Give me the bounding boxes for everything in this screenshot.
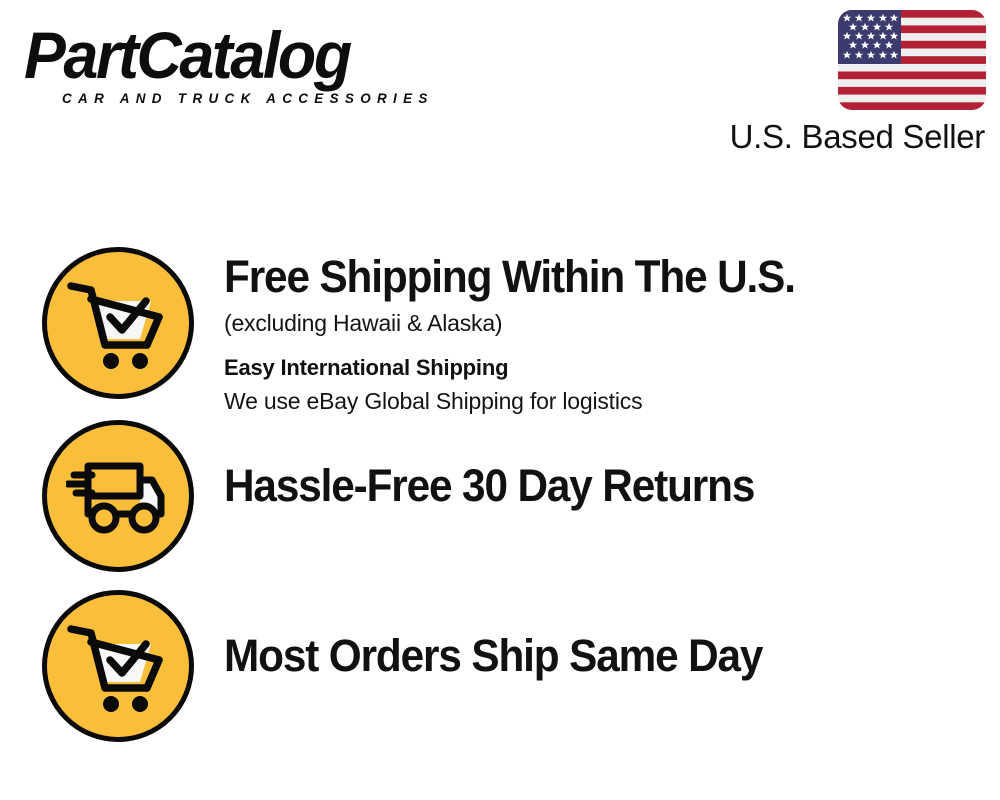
feature-row: Free Shipping Within The U.S. (excluding… [0,247,1000,427]
feature-row: Hassle-Free 30 Day Returns [0,420,1000,595]
brand-tagline: CAR AND TRUCK ACCESSORIES [62,90,434,106]
brand-logo: PartCatalog CAR AND TRUCK ACCESSORIES [24,22,494,112]
feature-subtitle: (excluding Hawaii & Alaska) [224,307,1000,339]
page-header: PartCatalog CAR AND TRUCK ACCESSORIES [0,0,1000,175]
us-based-seller-label: U.S. Based Seller [730,117,985,157]
shopping-cart-check-icon [42,247,194,399]
us-flag-icon [838,10,986,110]
delivery-truck-icon [42,420,194,572]
brand-wordmark: PartCatalog [24,22,471,88]
feature-title: Free Shipping Within The U.S. [224,251,953,303]
feature-text: Most Orders Ship Same Day [194,590,1000,682]
feature-row: Most Orders Ship Same Day [0,590,1000,765]
feature-strong-line: Easy International Shipping [224,353,1000,383]
features-list: Free Shipping Within The U.S. (excluding… [0,175,1000,800]
feature-title: Hassle-Free 30 Day Returns [224,460,953,512]
feature-title: Most Orders Ship Same Day [224,630,953,682]
shopping-cart-check-icon [42,590,194,742]
feature-note: We use eBay Global Shipping for logistic… [224,385,1000,417]
feature-text: Free Shipping Within The U.S. (excluding… [194,247,1000,417]
feature-text: Hassle-Free 30 Day Returns [194,420,1000,512]
